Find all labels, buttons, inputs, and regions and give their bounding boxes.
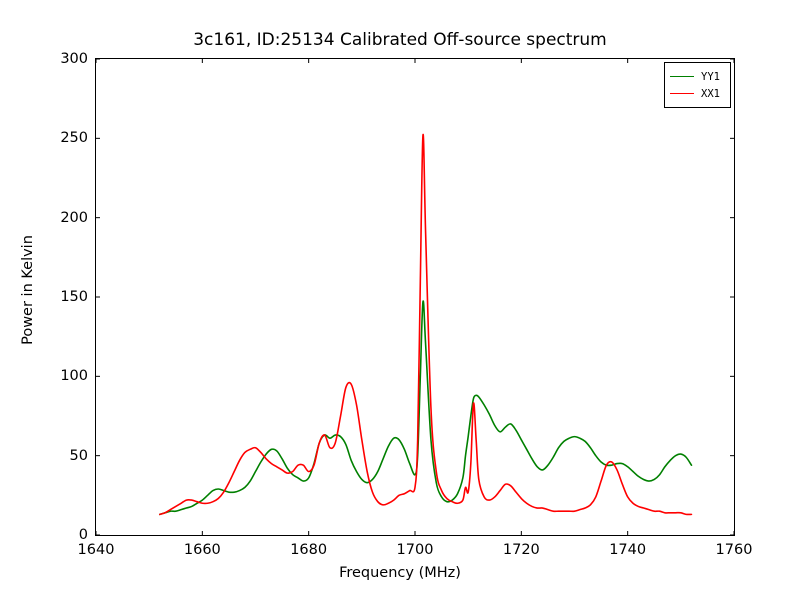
data-series-group [160, 134, 692, 514]
y-axis-tick-labels: 050100150200250300 [40, 58, 88, 536]
y-tick-label: 100 [48, 368, 88, 384]
legend-swatch-yy1 [670, 76, 694, 77]
figure-canvas: 3c161, ID:25134 Calibrated Off-source sp… [0, 0, 800, 600]
series-line-yy1 [160, 301, 692, 514]
legend-item-xx1: XX1 [669, 85, 726, 102]
legend-label-xx1: XX1 [701, 88, 720, 100]
plot-svg [96, 59, 734, 535]
x-tick-label: 1660 [167, 542, 237, 558]
series-line-xx1 [160, 134, 692, 514]
plot-area [95, 58, 735, 536]
x-tick-label: 1640 [61, 542, 131, 558]
legend-swatch-xx1 [670, 93, 694, 94]
legend: YY1 XX1 [664, 62, 731, 108]
x-axis-tick-labels: 1640166016801700172017401760 [95, 542, 735, 566]
y-tick-label: 150 [48, 289, 88, 305]
legend-item-yy1: YY1 [669, 68, 726, 85]
y-axis-label: Power in Kelvin [20, 200, 36, 380]
page-title: 3c161, ID:25134 Calibrated Off-source sp… [0, 30, 800, 50]
y-tick-label: 300 [48, 51, 88, 67]
x-tick-label: 1760 [699, 542, 769, 558]
x-axis-label: Frequency (MHz) [0, 565, 800, 581]
x-tick-label: 1720 [486, 542, 556, 558]
legend-label-yy1: YY1 [701, 71, 720, 83]
y-tick-label: 0 [48, 527, 88, 543]
x-tick-label: 1700 [380, 542, 450, 558]
x-tick-label: 1680 [274, 542, 344, 558]
y-tick-label: 50 [48, 448, 88, 464]
y-tick-label: 200 [48, 210, 88, 226]
y-tick-label: 250 [48, 130, 88, 146]
axis-ticks [96, 59, 734, 535]
x-tick-label: 1740 [593, 542, 663, 558]
